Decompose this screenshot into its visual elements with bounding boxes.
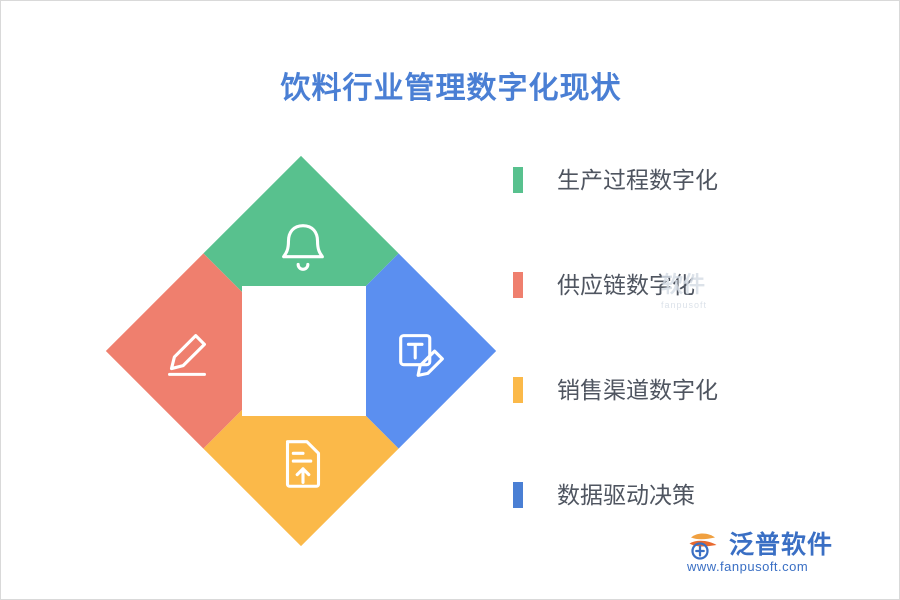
brand-logo[interactable]: 泛普软件 www.fanpusoft.com (685, 525, 875, 581)
legend: 生产过程数字化 供应链数字化 销售渠道数字化 数据驱动决策 (513, 161, 873, 581)
legend-swatch-sales (513, 377, 523, 403)
legend-swatch-production (513, 167, 523, 193)
legend-item[interactable]: 销售渠道数字化 (513, 371, 873, 476)
legend-swatch-supplychain (513, 272, 523, 298)
logo-mark-icon (685, 527, 721, 563)
page-title: 饮料行业管理数字化现状 (1, 63, 900, 107)
logo-text: 泛普软件 (729, 525, 833, 561)
legend-label-production: 生产过程数字化 (557, 161, 718, 195)
diamond-center-hole (242, 286, 366, 416)
legend-item[interactable]: 生产过程数字化 (513, 161, 873, 266)
legend-label-sales: 销售渠道数字化 (557, 371, 718, 405)
infographic-page: 饮料行业管理数字化现状 (0, 0, 900, 600)
pen-write-icon (156, 324, 218, 386)
legend-swatch-decision (513, 482, 523, 508)
legend-label-decision: 数据驱动决策 (557, 476, 695, 510)
legend-label-supplychain: 供应链数字化 (557, 266, 695, 300)
bell-icon (272, 216, 334, 278)
legend-item[interactable]: 供应链数字化 (513, 266, 873, 371)
logo-url: www.fanpusoft.com (687, 559, 808, 574)
text-edit-icon (391, 324, 453, 386)
diamond-diagram (106, 156, 496, 546)
document-upload-icon (272, 432, 334, 494)
